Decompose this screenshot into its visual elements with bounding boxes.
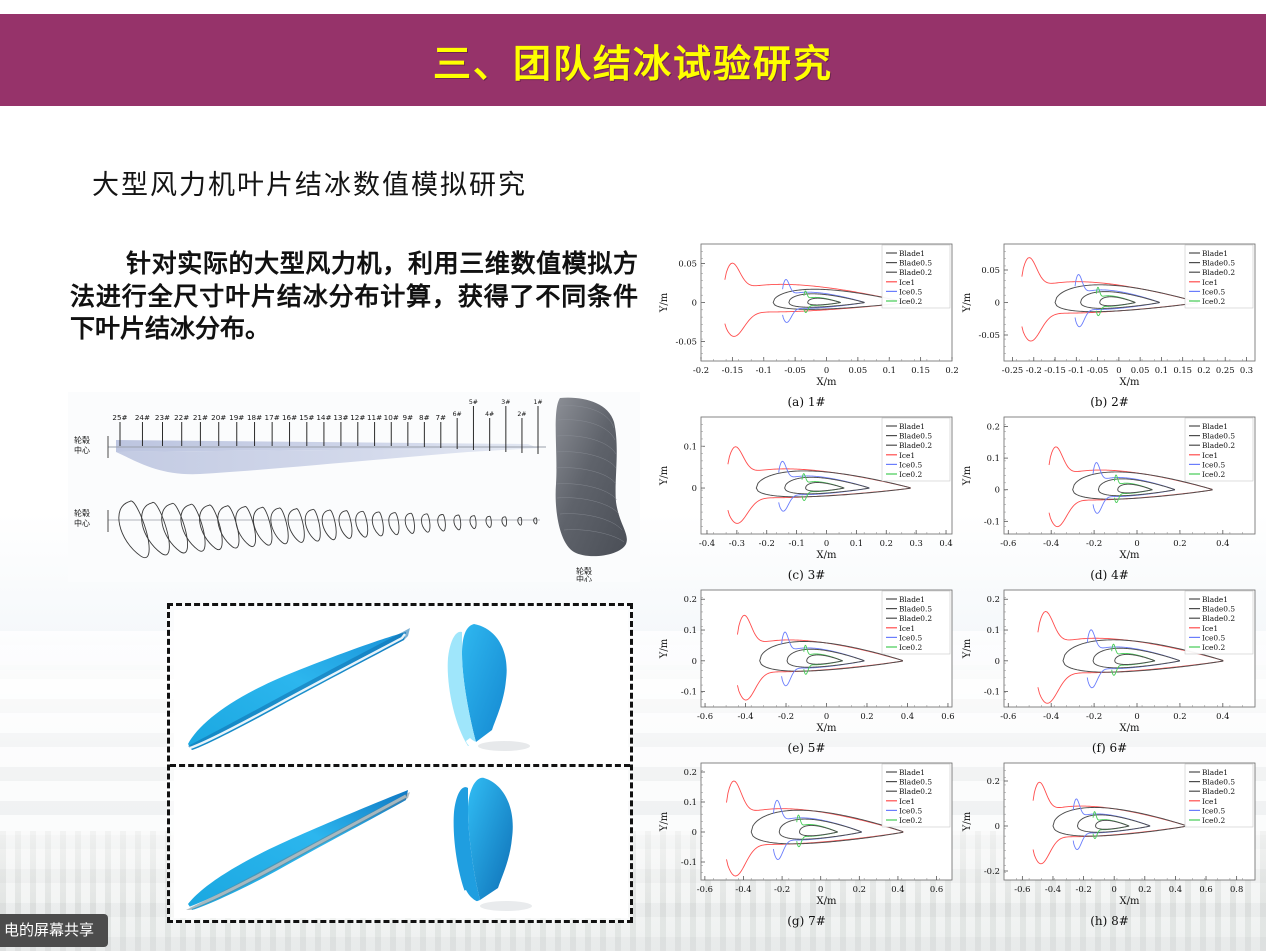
- y-tick-label: 0.1: [684, 441, 697, 451]
- page-title: 三、团队结冰试验研究: [433, 33, 833, 88]
- x-tick-label: 0.2: [1173, 711, 1186, 721]
- x-tick-label: 0.4: [891, 884, 904, 894]
- x-tick-label: -0.2: [778, 711, 794, 721]
- x-tick-label: -0.25: [1002, 365, 1023, 375]
- legend-label-ice0.2: Ice0.2: [899, 816, 922, 825]
- legend-label-ice0.5: Ice0.5: [1202, 806, 1225, 815]
- legend-label-blade0.2: Blade0.2: [1202, 787, 1235, 796]
- legend-label-blade0.2: Blade0.2: [899, 614, 932, 623]
- legend-label-ice0.2: Ice0.2: [899, 297, 922, 306]
- chart-caption-e: (e) 5#: [655, 741, 958, 755]
- y-tick-label: 0: [995, 821, 1000, 831]
- legend-label-ice1: Ice1: [899, 278, 915, 287]
- airfoil-section: [303, 509, 322, 543]
- x-tick-label: -0.3: [729, 538, 745, 548]
- y-axis-label: Y/m: [659, 292, 670, 313]
- y-tick-label: 0.05: [981, 265, 1000, 275]
- airfoil-section: [137, 501, 174, 559]
- blade-section-label: 1#: [533, 399, 542, 406]
- chart-a: -0.2-0.15-0.1-0.0500.050.10.150.20.050-0…: [655, 236, 958, 409]
- y-tick-label: 0.1: [684, 625, 697, 635]
- x-tick-label: -0.6: [1000, 538, 1016, 548]
- legend-label-blade0.5: Blade0.5: [899, 778, 932, 787]
- chart-legend: Blade1Blade0.5Blade0.2Ice1Ice0.5Ice0.2: [1185, 245, 1253, 308]
- y-tick-label: 0.2: [987, 594, 1000, 604]
- y-tick-label: 0.05: [678, 259, 697, 269]
- y-tick-label: 0.1: [987, 453, 1000, 463]
- x-axis-label: X/m: [817, 723, 837, 734]
- legend-label-ice0.2: Ice0.2: [1202, 643, 1225, 652]
- legend-label-ice0.5: Ice0.5: [899, 460, 922, 469]
- chart-e: -0.6-0.4-0.200.20.40.60.20.10-0.1X/mY/mB…: [655, 582, 958, 755]
- chart-d-svg: -0.6-0.4-0.200.20.40.20.10-0.1X/mY/mBlad…: [958, 409, 1261, 582]
- legend-label-ice0.5: Ice0.5: [899, 287, 922, 296]
- x-tick-label: 0.6: [1199, 884, 1212, 894]
- airfoil-section: [320, 509, 338, 541]
- x-tick-label: 0.2: [1197, 365, 1210, 375]
- x-tick-label: -0.4: [699, 538, 715, 548]
- legend-label-blade0.2: Blade0.2: [1202, 614, 1235, 623]
- y-axis-label: Y/m: [659, 638, 670, 659]
- airfoil-section: [453, 515, 461, 530]
- x-tick-label: 0.1: [1155, 365, 1168, 375]
- chart-legend: Blade1Blade0.5Blade0.2Ice1Ice0.5Ice0.2: [882, 245, 950, 308]
- airfoil-section: [157, 502, 191, 557]
- y-tick-label: -0.1: [984, 516, 1000, 526]
- y-axis-label: Y/m: [962, 292, 973, 313]
- y-tick-label: 0: [995, 656, 1000, 666]
- x-tick-label: 0.1: [850, 538, 863, 548]
- blade-section-label: 14#: [316, 413, 331, 422]
- x-tick-label: 0.2: [1173, 538, 1186, 548]
- chart-legend: Blade1Blade0.5Blade0.2Ice1Ice0.5Ice0.2: [882, 418, 950, 481]
- x-tick-label: 0: [1112, 884, 1117, 894]
- chart-f: -0.6-0.4-0.200.20.40.20.10-0.1X/mY/mBlad…: [958, 582, 1261, 755]
- airfoil-section: [214, 505, 242, 551]
- airfoil-section: [337, 510, 353, 540]
- x-tick-label: 0: [818, 884, 823, 894]
- y-axis-label: Y/m: [962, 811, 973, 832]
- legend-label-blade0.5: Blade0.5: [899, 605, 932, 614]
- slide-title-band: 三、团队结冰试验研究: [0, 14, 1266, 106]
- chart-c: -0.4-0.3-0.2-0.100.10.20.30.40.10X/mY/mB…: [655, 409, 958, 582]
- x-tick-label: 0.6: [941, 711, 954, 721]
- chart-legend: Blade1Blade0.5Blade0.2Ice1Ice0.5Ice0.2: [1185, 418, 1253, 481]
- x-tick-label: -0.1: [789, 538, 805, 548]
- svg-text:轮毂: 轮毂: [74, 435, 90, 445]
- airfoil-stack: [108, 499, 540, 562]
- blade-section-label: 10#: [384, 413, 399, 422]
- svg-text:轮毂: 轮毂: [74, 508, 90, 518]
- legend-label-blade0.2: Blade0.2: [899, 441, 932, 450]
- blade-section-diagram: 25#24#23#22#21#20#19#18#17#16#15#14#13#1…: [68, 392, 640, 582]
- chart-caption-g: (g) 7#: [655, 914, 958, 928]
- x-tick-label: -0.6: [697, 711, 713, 721]
- y-tick-label: -0.05: [676, 337, 697, 347]
- x-tick-label: -0.05: [784, 365, 805, 375]
- x-tick-label: -0.4: [1043, 538, 1059, 548]
- svg-text:中心: 中心: [576, 574, 592, 582]
- y-tick-label: 0.2: [684, 594, 697, 604]
- y-axis-label: Y/m: [659, 811, 670, 832]
- chart-caption-a: (a) 1#: [655, 395, 958, 409]
- legend-label-blade0.2: Blade0.2: [1202, 441, 1235, 450]
- y-tick-label: 0.1: [987, 625, 1000, 635]
- x-tick-label: 0.4: [901, 711, 914, 721]
- legend-label-ice1: Ice1: [1202, 797, 1218, 806]
- legend-label-ice0.2: Ice0.2: [1202, 816, 1225, 825]
- legend-label-ice0.2: Ice0.2: [899, 643, 922, 652]
- airfoil-section: [388, 512, 400, 535]
- chart-caption-c: (c) 3#: [655, 568, 958, 582]
- blade-section-label: 8#: [419, 413, 430, 422]
- blade-section-label: 17#: [265, 413, 280, 422]
- ice-shape-render-bottom: [174, 770, 628, 918]
- x-tick-label: -0.4: [737, 711, 753, 721]
- x-tick-label: 0.3: [1240, 365, 1253, 375]
- hub-3d-render: 轮毂 中心: [556, 398, 627, 582]
- chart-caption-f: (f) 6#: [958, 741, 1261, 755]
- x-axis-label: X/m: [817, 377, 837, 388]
- hub-center-label-mid: 轮毂 中心: [74, 508, 108, 532]
- y-tick-label: 0.1: [684, 797, 697, 807]
- y-axis-label: Y/m: [962, 638, 973, 659]
- x-axis-label: X/m: [1120, 377, 1140, 388]
- x-axis-label: X/m: [1120, 896, 1140, 907]
- legend-label-ice0.2: Ice0.2: [899, 470, 922, 479]
- blade-section-label: 16#: [282, 413, 297, 422]
- x-tick-label: 0.8: [1230, 884, 1243, 894]
- y-tick-label: -0.1: [681, 687, 697, 697]
- chart-g: -0.6-0.4-0.200.20.40.60.20.10-0.1X/mY/mB…: [655, 755, 958, 928]
- blade-section-label: 3#: [501, 399, 510, 406]
- hub-center-label-top: 轮毂 中心: [74, 435, 108, 458]
- airfoil-section: [371, 512, 385, 537]
- y-tick-label: 0.2: [684, 767, 697, 777]
- airfoil-section: [486, 516, 492, 528]
- legend-label-blade1: Blade1: [1202, 249, 1228, 258]
- legend-label-blade0.5: Blade0.5: [1202, 605, 1235, 614]
- x-tick-label: 0.1: [883, 365, 896, 375]
- y-tick-label: -0.1: [681, 857, 697, 867]
- x-tick-label: -0.6: [1000, 711, 1016, 721]
- y-tick-label: 0: [995, 298, 1000, 308]
- y-tick-label: 0: [692, 483, 697, 493]
- legend-label-ice1: Ice1: [899, 451, 915, 460]
- blade-diagram-svg: 25#24#23#22#21#20#19#18#17#16#15#14#13#1…: [68, 392, 640, 582]
- legend-label-ice0.5: Ice0.5: [899, 806, 922, 815]
- blade-section-label: 18#: [247, 413, 262, 422]
- legend-label-ice1: Ice1: [1202, 451, 1218, 460]
- x-tick-label: -0.4: [1045, 884, 1061, 894]
- chart-caption-h: (h) 8#: [958, 914, 1261, 928]
- x-tick-label: 0.2: [853, 884, 866, 894]
- chart-f-svg: -0.6-0.4-0.200.20.40.20.10-0.1X/mY/mBlad…: [958, 582, 1261, 755]
- x-tick-label: 0.2: [860, 711, 873, 721]
- airfoil-section: [286, 508, 307, 544]
- screen-share-indicator[interactable]: 电的屏幕共享: [0, 914, 108, 947]
- legend-label-ice0.5: Ice0.5: [1202, 633, 1225, 642]
- x-tick-label: -0.2: [1076, 884, 1092, 894]
- x-tick-label: 0.6: [930, 884, 943, 894]
- blade-section-label: 21#: [193, 413, 208, 422]
- blade-section-label: 13#: [333, 413, 348, 422]
- panel-divider: [170, 764, 630, 767]
- legend-label-ice1: Ice1: [899, 797, 915, 806]
- x-tick-label: -0.2: [1086, 711, 1102, 721]
- blade-section-labels: 25#24#23#22#21#20#19#18#17#16#15#14#13#1…: [112, 399, 542, 422]
- blade-section-label: 7#: [435, 413, 446, 422]
- blade-section-label: 5#: [469, 399, 478, 406]
- x-tick-label: 0.2: [1138, 884, 1151, 894]
- x-axis-ticks: -0.6-0.4-0.200.20.40.60.8: [1004, 876, 1255, 894]
- chart-h-svg: -0.6-0.4-0.200.20.40.60.80.20-0.2X/mY/mB…: [958, 755, 1261, 928]
- blade-section-label: 20#: [211, 413, 226, 422]
- blade-section-label: 23#: [155, 413, 170, 422]
- chart-c-svg: -0.4-0.3-0.2-0.100.10.20.30.40.10X/mY/mB…: [655, 409, 958, 582]
- legend-label-ice1: Ice1: [1202, 624, 1218, 633]
- y-axis-ticks: 0.050-0.05: [979, 244, 1008, 361]
- y-axis-label: Y/m: [962, 465, 973, 486]
- blade-section-label: 12#: [350, 413, 365, 422]
- x-tick-label: -0.15: [722, 365, 743, 375]
- legend-label-ice0.5: Ice0.5: [899, 633, 922, 642]
- blade-section-label: 25#: [112, 413, 127, 422]
- x-tick-label: -0.2: [693, 365, 709, 375]
- x-tick-label: -0.6: [1014, 884, 1030, 894]
- y-axis-label: Y/m: [659, 465, 670, 486]
- chart-a-svg: -0.2-0.15-0.1-0.0500.050.10.150.20.050-0…: [655, 236, 958, 409]
- legend-label-blade1: Blade1: [1202, 768, 1228, 777]
- x-tick-label: 0.2: [880, 538, 893, 548]
- legend-label-blade1: Blade1: [899, 249, 925, 258]
- blade-section-label: 19#: [229, 413, 244, 422]
- x-tick-label: 0: [1134, 711, 1139, 721]
- section-subtitle: 大型风力机叶片结冰数值模拟研究: [92, 163, 527, 202]
- airfoil-section: [502, 517, 507, 527]
- airfoil-section: [404, 513, 415, 534]
- x-tick-label: 0.05: [1131, 365, 1150, 375]
- airfoil-section: [470, 515, 477, 528]
- x-tick-label: 0.2: [945, 365, 958, 375]
- legend-label-blade0.5: Blade0.5: [1202, 778, 1235, 787]
- ice-shape-render-top: [174, 610, 628, 760]
- chart-b-svg: -0.25-0.2-0.15-0.1-0.0500.050.10.150.20.…: [958, 236, 1261, 409]
- x-tick-label: 0.15: [1173, 365, 1192, 375]
- x-tick-label: -0.4: [735, 884, 751, 894]
- legend-label-blade1: Blade1: [1202, 595, 1228, 604]
- legend-label-ice0.5: Ice0.5: [1202, 287, 1225, 296]
- blade-section-label: 11#: [367, 413, 382, 422]
- legend-label-ice0.2: Ice0.2: [1202, 470, 1225, 479]
- legend-label-ice0.2: Ice0.2: [1202, 297, 1225, 306]
- legend-label-blade0.5: Blade0.5: [899, 432, 932, 441]
- x-tick-label: 0: [824, 538, 829, 548]
- chart-g-svg: -0.6-0.4-0.200.20.40.60.20.10-0.1X/mY/mB…: [655, 755, 958, 928]
- airfoil-section: [354, 511, 369, 538]
- legend-label-blade1: Blade1: [899, 768, 925, 777]
- blade-planform: [108, 440, 546, 474]
- legend-label-blade0.2: Blade0.2: [899, 787, 932, 796]
- y-tick-label: -0.1: [984, 687, 1000, 697]
- legend-label-ice1: Ice1: [1202, 278, 1218, 287]
- x-tick-label: 0: [1116, 365, 1121, 375]
- legend-label-blade0.2: Blade0.2: [899, 268, 932, 277]
- y-tick-label: 0: [995, 485, 1000, 495]
- body-paragraph: 针对实际的大型风力机，利用三维数值模拟方法进行全尺寸叶片结冰分布计算，获得了不同…: [70, 248, 638, 346]
- chart-legend: Blade1Blade0.5Blade0.2Ice1Ice0.5Ice0.2: [1185, 764, 1253, 827]
- x-tick-label: -0.2: [774, 884, 790, 894]
- x-tick-label: -0.15: [1044, 365, 1065, 375]
- chart-caption-b: (b) 2#: [958, 395, 1261, 409]
- y-tick-label: 0: [692, 656, 697, 666]
- x-tick-label: -0.1: [1068, 365, 1084, 375]
- chart-b: -0.25-0.2-0.15-0.1-0.0500.050.10.150.20.…: [958, 236, 1261, 409]
- chart-d: -0.6-0.4-0.200.20.40.20.10-0.1X/mY/mBlad…: [958, 409, 1261, 582]
- legend-label-ice1: Ice1: [899, 624, 915, 633]
- svg-text:中心: 中心: [74, 518, 90, 528]
- blade-section-label: 15#: [299, 413, 314, 422]
- ice-distribution-chart-grid: -0.2-0.15-0.1-0.0500.050.10.150.20.050-0…: [655, 236, 1261, 928]
- x-tick-label: -0.05: [1087, 365, 1108, 375]
- blade-section-label: 2#: [517, 411, 526, 418]
- y-tick-label: 0.2: [987, 776, 1000, 786]
- y-tick-label: 0: [692, 827, 697, 837]
- x-tick-label: 0.4: [1216, 538, 1229, 548]
- x-tick-label: 0: [824, 711, 829, 721]
- chart-h: -0.6-0.4-0.200.20.40.60.80.20-0.2X/mY/mB…: [958, 755, 1261, 928]
- y-tick-label: -0.2: [984, 866, 1000, 876]
- svg-text:中心: 中心: [74, 445, 90, 455]
- legend-label-blade0.5: Blade0.5: [1202, 432, 1235, 441]
- x-tick-label: 0: [1134, 538, 1139, 548]
- y-tick-label: -0.05: [979, 330, 1000, 340]
- x-axis-label: X/m: [1120, 723, 1140, 734]
- x-tick-label: -0.4: [1043, 711, 1059, 721]
- airfoil-section: [196, 504, 226, 553]
- x-tick-label: -0.6: [697, 884, 713, 894]
- x-tick-label: -0.2: [1026, 365, 1042, 375]
- blade-section-label: 22#: [174, 413, 189, 422]
- chart-legend: Blade1Blade0.5Blade0.2Ice1Ice0.5Ice0.2: [882, 764, 950, 827]
- airfoil-section: [437, 514, 446, 531]
- blade-section-label: 24#: [135, 413, 150, 422]
- airfoil-section: [518, 517, 522, 525]
- chart-e-svg: -0.6-0.4-0.200.20.40.60.20.10-0.1X/mY/mB…: [655, 582, 958, 755]
- x-tick-label: -0.1: [756, 365, 772, 375]
- blade-section-label: 6#: [453, 411, 462, 418]
- y-axis-ticks: 0.050-0.05: [676, 244, 705, 361]
- airfoil-section: [421, 514, 431, 533]
- blade-section-label: 9#: [403, 413, 414, 422]
- x-axis-label: X/m: [817, 896, 837, 907]
- y-tick-label: 0.2: [987, 421, 1000, 431]
- legend-label-blade0.2: Blade0.2: [1202, 268, 1235, 277]
- legend-label-ice0.5: Ice0.5: [1202, 460, 1225, 469]
- airfoil-section: [113, 499, 154, 562]
- legend-label-blade1: Blade1: [899, 595, 925, 604]
- airfoil-section: [177, 503, 209, 555]
- x-tick-label: -0.2: [759, 538, 775, 548]
- airfoil-section: [250, 506, 274, 547]
- x-tick-label: 0.15: [911, 365, 930, 375]
- x-tick-label: -0.2: [1086, 538, 1102, 548]
- legend-label-blade1: Blade1: [1202, 422, 1228, 431]
- x-tick-label: 0.4: [939, 538, 952, 548]
- x-tick-label: 0.3: [909, 538, 922, 548]
- x-tick-label: 0.05: [849, 365, 868, 375]
- x-axis-label: X/m: [817, 550, 837, 561]
- x-tick-label: 0.4: [1216, 711, 1229, 721]
- chart-legend: Blade1Blade0.5Blade0.2Ice1Ice0.5Ice0.2: [882, 591, 950, 654]
- x-tick-label: 0: [824, 365, 829, 375]
- blade-section-label: 4#: [485, 411, 494, 418]
- x-tick-label: 0.4: [1169, 884, 1182, 894]
- y-tick-label: 0: [692, 298, 697, 308]
- x-axis-label: X/m: [1120, 550, 1140, 561]
- legend-label-blade0.5: Blade0.5: [899, 259, 932, 268]
- x-tick-label: 0.25: [1216, 365, 1235, 375]
- ice-accretion-photo-panel: [167, 603, 633, 923]
- legend-label-blade1: Blade1: [899, 422, 925, 431]
- chart-caption-d: (d) 4#: [958, 568, 1261, 582]
- legend-label-blade0.5: Blade0.5: [1202, 259, 1235, 268]
- chart-legend: Blade1Blade0.5Blade0.2Ice1Ice0.5Ice0.2: [1185, 591, 1253, 654]
- airfoil-section: [534, 518, 537, 524]
